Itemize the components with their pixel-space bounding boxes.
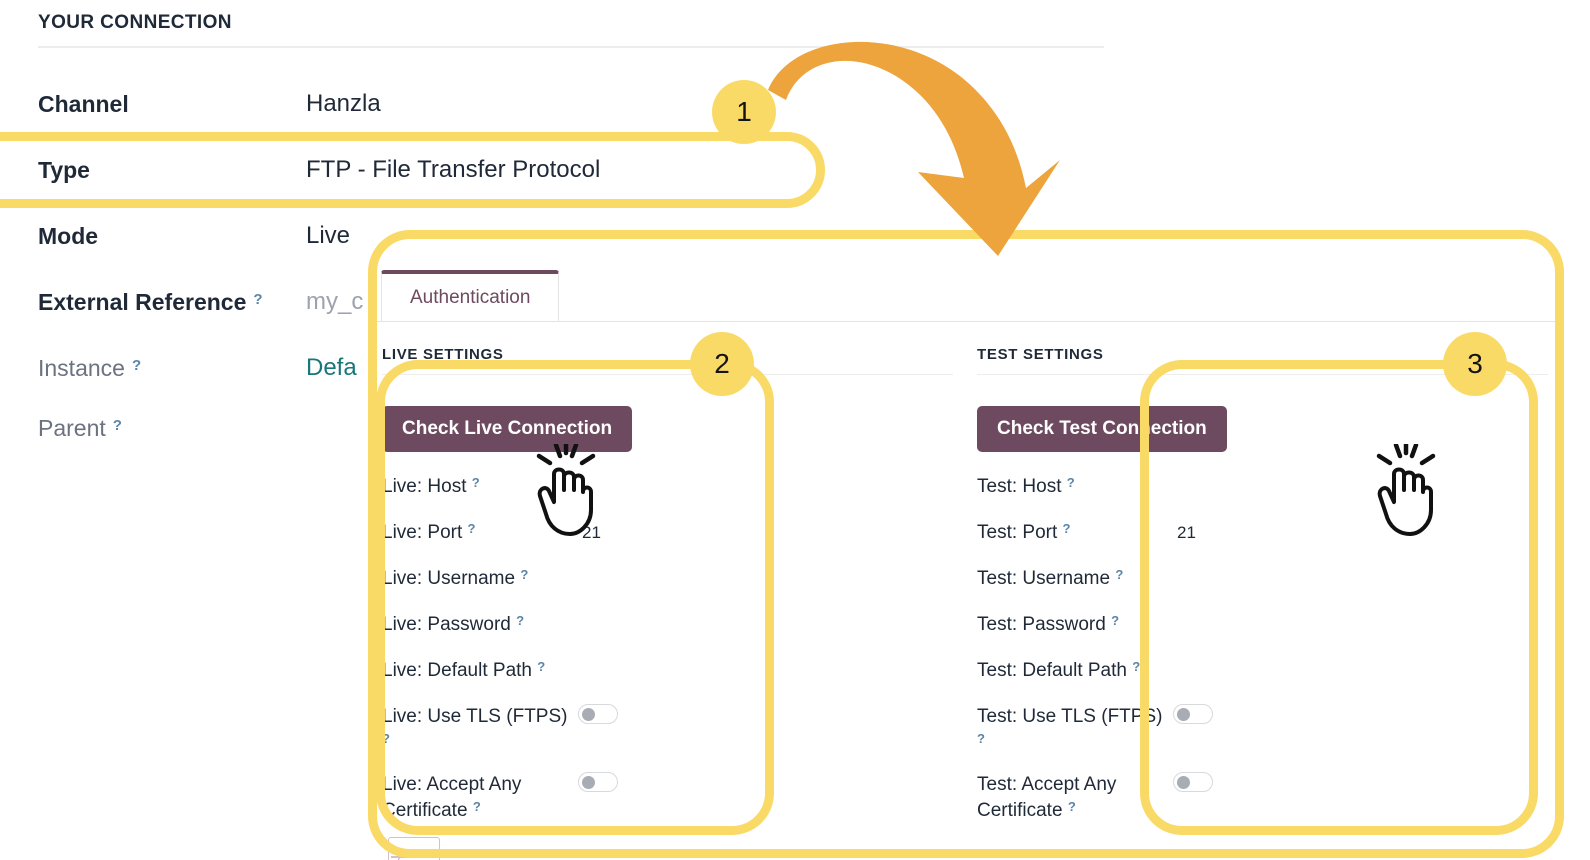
form-row-parent: Parent ? [38,408,306,448]
live-host-row: Live: Host ? [382,474,953,501]
check-test-connection-button[interactable]: Check Test Connection [977,406,1227,452]
test-port-value[interactable]: 21 [1177,520,1196,546]
field-value-mode[interactable]: Live [306,222,350,250]
screen-root: YOUR CONNECTION Channel Hanzla Type FTP … [0,0,1590,860]
live-settings-divider [382,374,953,375]
test-settings-column: TEST SETTINGS Check Test Connection Test… [965,322,1560,860]
test-host-row: Test: Host ? [977,474,1548,501]
page-title: YOUR CONNECTION [38,12,232,34]
live-password-row: Live: Password ? [382,612,953,639]
panel-body: LIVE SETTINGS Check Live Connection Live… [370,322,1560,860]
form-row-channel: Channel Hanzla [38,84,381,124]
form-row-mode: Mode Live [38,216,350,256]
field-label-parent: Parent ? [38,415,306,442]
form-row-type: Type FTP - File Transfer Protocol [38,150,600,190]
clipped-widget [388,837,440,860]
tab-authentication[interactable]: Authentication [381,270,559,322]
curved-down-arrow-icon [760,28,1080,258]
test-password-label: Test: Password ? [977,612,1173,639]
help-icon[interactable]: ? [382,731,390,746]
live-settings-column: LIVE SETTINGS Check Live Connection Live… [370,322,965,860]
live-host-label: Live: Host ? [382,474,578,501]
live-use-tls-label: Live: Use TLS (FTPS) ? [382,704,578,757]
test-host-label: Test: Host ? [977,474,1173,501]
live-use-tls-toggle[interactable] [578,704,618,724]
clipped-widget-ring [397,850,427,860]
help-icon[interactable]: ? [977,731,985,746]
help-icon[interactable]: ? [1067,475,1075,490]
test-default-path-label: Test: Default Path ? [977,658,1173,685]
test-use-tls-row: Test: Use TLS (FTPS) ? [977,704,1548,757]
test-username-row: Test: Username ? [977,566,1548,593]
live-password-label: Live: Password ? [382,612,578,639]
form-row-external-reference: External Reference ? my_c [38,282,363,322]
live-accept-any-certificate-label: Live: Accept Any Certificate ? [382,772,578,825]
field-label-external-reference: External Reference ? [38,289,306,316]
clipped-widget-bar [391,856,437,858]
field-label-channel: Channel [38,91,306,118]
live-username-label: Live: Username ? [382,566,578,593]
test-settings-divider [977,374,1548,375]
live-username-row: Live: Username ? [382,566,953,593]
field-value-type[interactable]: FTP - File Transfer Protocol [306,156,600,184]
help-icon[interactable]: ? [516,613,524,628]
live-port-row: Live: Port ? 21 [382,520,953,547]
help-icon[interactable]: ? [1111,613,1119,628]
toggle-knob [1177,776,1190,789]
test-settings-title: TEST SETTINGS [977,346,1104,363]
help-icon[interactable]: ? [520,567,528,582]
help-icon[interactable]: ? [472,475,480,490]
toggle-knob [582,776,595,789]
live-default-path-row: Live: Default Path ? [382,658,953,685]
help-icon[interactable]: ? [473,799,481,814]
live-use-tls-row: Live: Use TLS (FTPS) ? [382,704,953,757]
live-settings-title: LIVE SETTINGS [382,346,504,363]
toggle-knob [1177,708,1190,721]
field-label-mode: Mode [38,223,306,250]
test-username-label: Test: Username ? [977,566,1173,593]
help-icon[interactable]: ? [1068,799,1076,814]
help-icon[interactable]: ? [1132,659,1140,674]
section-divider [38,46,1104,48]
field-value-instance[interactable]: Defa [306,354,357,382]
test-port-row: Test: Port ? 21 [977,520,1548,547]
field-label-instance: Instance ? [38,355,306,382]
authentication-panel: Authentication LIVE SETTINGS Check Live … [370,252,1560,860]
test-default-path-row: Test: Default Path ? [977,658,1548,685]
live-port-label: Live: Port ? [382,520,578,547]
test-accept-any-certificate-label: Test: Accept Any Certificate ? [977,772,1173,825]
help-icon[interactable]: ? [468,521,476,536]
help-icon[interactable]: ? [132,357,141,374]
help-icon[interactable]: ? [253,291,262,308]
form-row-instance: Instance ? Defa [38,348,357,388]
live-accept-any-certificate-row: Live: Accept Any Certificate ? [382,772,953,825]
live-port-value[interactable]: 21 [582,520,601,546]
field-value-external-reference[interactable]: my_c [306,288,363,316]
test-accept-any-certificate-row: Test: Accept Any Certificate ? [977,772,1548,825]
test-use-tls-toggle[interactable] [1173,704,1213,724]
test-accept-any-certificate-toggle[interactable] [1173,772,1213,792]
live-accept-any-certificate-toggle[interactable] [578,772,618,792]
test-password-row: Test: Password ? [977,612,1548,639]
toggle-knob [582,708,595,721]
tab-bar: Authentication [370,252,1560,322]
help-icon[interactable]: ? [1063,521,1071,536]
live-default-path-label: Live: Default Path ? [382,658,578,685]
help-icon[interactable]: ? [537,659,545,674]
test-use-tls-label: Test: Use TLS (FTPS) ? [977,704,1173,757]
tab-label: Authentication [410,287,530,309]
help-icon[interactable]: ? [113,417,122,434]
field-value-channel[interactable]: Hanzla [306,90,381,118]
field-label-type: Type [38,157,306,184]
test-port-label: Test: Port ? [977,520,1173,547]
check-live-connection-button[interactable]: Check Live Connection [382,406,632,452]
help-icon[interactable]: ? [1115,567,1123,582]
step-badge-1: 1 [712,80,776,144]
